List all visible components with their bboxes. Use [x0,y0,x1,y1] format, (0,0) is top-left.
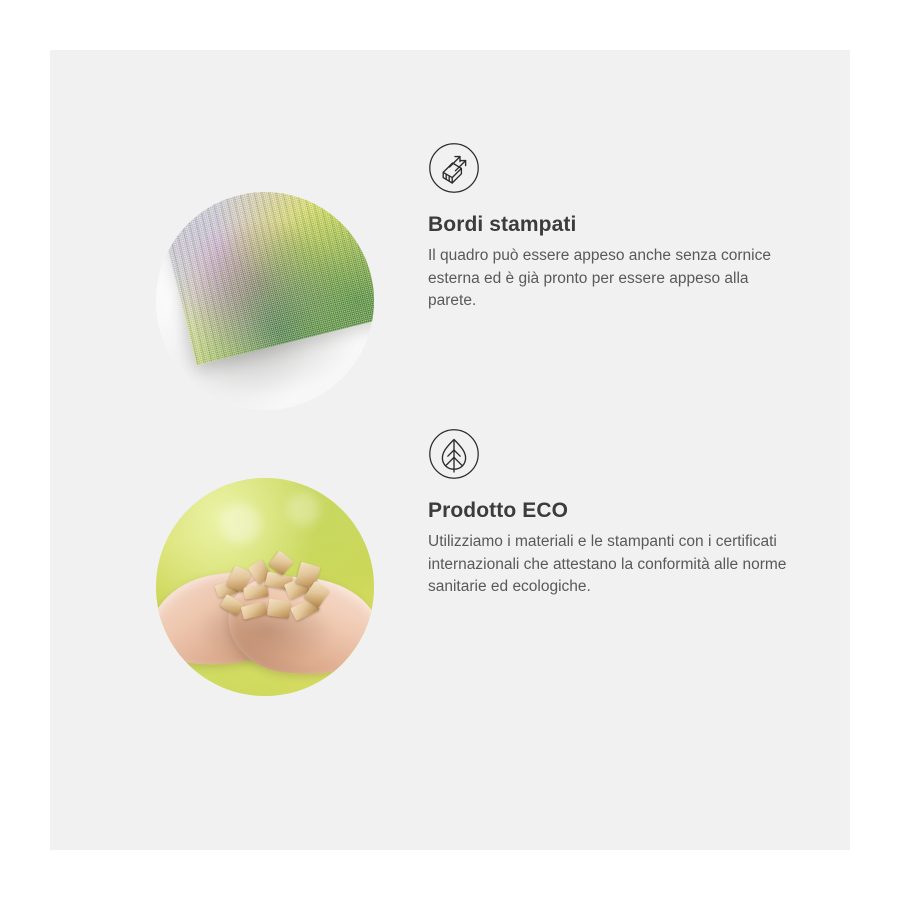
printed-edges-icon [428,142,480,194]
leaf-icon [428,428,480,480]
wood-chip [241,601,267,619]
feature-copy-eco-product: Prodotto ECO Utilizziamo i materiali e l… [428,428,806,599]
hands-holding-wood-chips-photo [156,478,374,696]
feature-copy-printed-edges: Bordi stampati Il quadro può essere appe… [428,142,806,313]
content-panel: Bordi stampati Il quadro può essere appe… [50,50,850,850]
feature-description: Il quadro può essere appeso anche senza … [428,245,790,312]
feature-description: Utilizziamo i materiali e le stampanti c… [428,531,790,598]
product-feature-page: Bordi stampati Il quadro può essere appe… [0,0,900,900]
wood-chip-pile [212,552,334,630]
wood-chip [243,584,268,599]
wood-chip [267,599,291,619]
feature-title: Prodotto ECO [428,498,806,523]
feature-title: Bordi stampati [428,212,806,237]
wood-chip [220,594,244,616]
canvas-print-corner-photo [156,192,374,410]
